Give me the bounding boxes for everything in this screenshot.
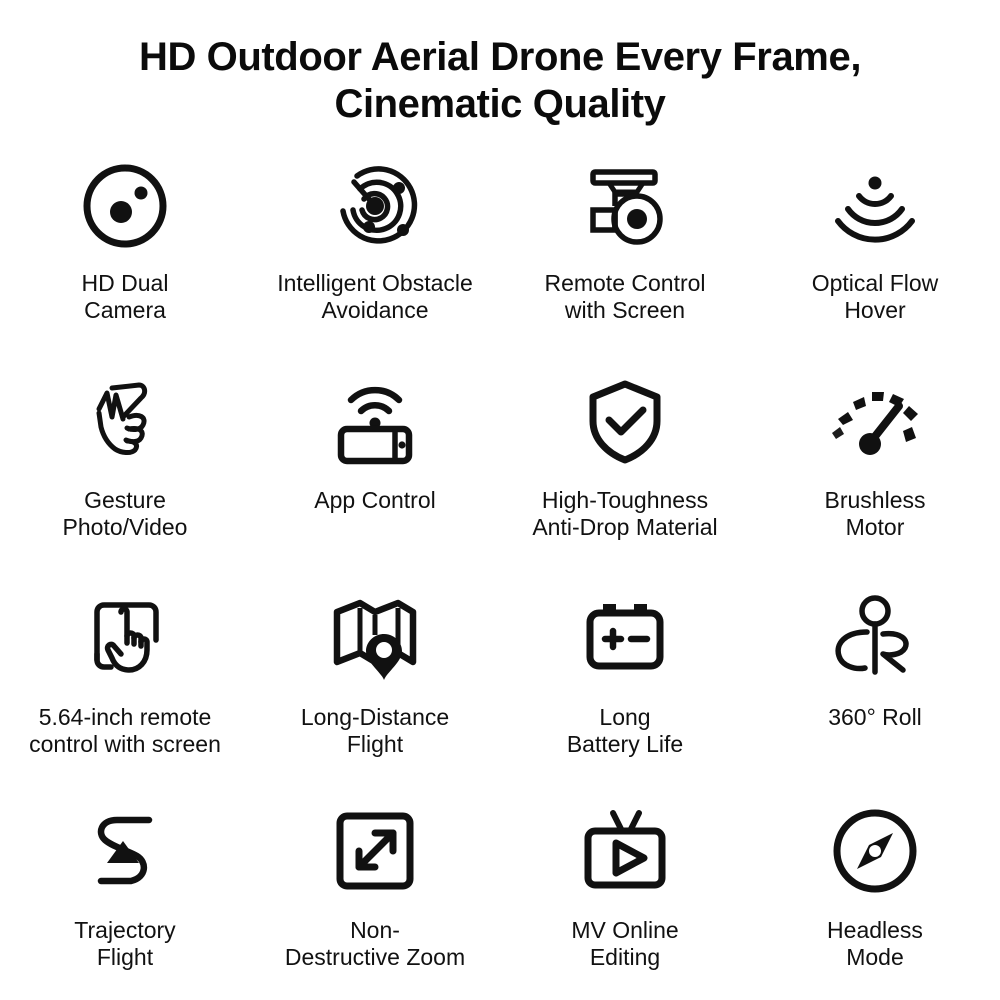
feature-label: Non- Destructive Zoom — [252, 917, 498, 972]
feature-label: Long Battery Life — [502, 704, 748, 759]
compass-icon — [820, 803, 930, 899]
feature-cell-hd-dual-camera: HD Dual Camera — [0, 154, 250, 369]
feature-cell-mv-online-editing: MV Online Editing — [500, 799, 750, 1000]
page-title: HD Outdoor Aerial Drone Every Frame, Cin… — [50, 34, 950, 128]
feature-cell-360-roll: 360° Roll — [750, 584, 1000, 799]
hd-dual-camera-icon — [70, 158, 180, 254]
obstacle-avoidance-radar-icon — [320, 158, 430, 254]
feature-cell-remote-control-with-screen: Remote Control with Screen — [500, 154, 750, 369]
feature-label: HD Dual Camera — [2, 270, 248, 325]
feature-label: Headless Mode — [752, 917, 998, 972]
feature-label: Gesture Photo/Video — [2, 487, 248, 542]
expand-arrows-icon — [320, 803, 430, 899]
feature-grid: HD Dual Camera Intelligent Obstacle Avoi… — [0, 154, 1000, 1000]
feature-cell-app-control: App Control — [250, 369, 500, 584]
feature-label: 360° Roll — [752, 704, 998, 732]
feature-label: Long-Distance Flight — [252, 704, 498, 759]
trajectory-s-curve-icon — [70, 803, 180, 899]
feature-label: Trajectory Flight — [2, 917, 248, 972]
feature-label: High-Toughness Anti-Drop Material — [502, 487, 748, 542]
map-pin-icon — [320, 588, 430, 684]
feature-label: App Control — [252, 487, 498, 515]
feature-cell-gesture-photo-video: Gesture Photo/Video — [0, 369, 250, 584]
feature-cell-long-battery-life: Long Battery Life — [500, 584, 750, 799]
feature-label: Optical Flow Hover — [752, 270, 998, 325]
battery-icon — [570, 588, 680, 684]
shield-check-icon — [570, 373, 680, 469]
feature-label: 5.64-inch remote control with screen — [2, 704, 248, 759]
feature-cell-anti-drop-material: High-Toughness Anti-Drop Material — [500, 369, 750, 584]
phone-wifi-icon — [320, 373, 430, 469]
feature-cell-headless-mode: Headless Mode — [750, 799, 1000, 1000]
feature-label: MV Online Editing — [502, 917, 748, 972]
feature-cell-trajectory-flight: Trajectory Flight — [0, 799, 250, 1000]
speedometer-icon — [820, 373, 930, 469]
feature-poster: HD Outdoor Aerial Drone Every Frame, Cin… — [0, 0, 1000, 1000]
tv-play-icon — [570, 803, 680, 899]
optical-flow-waves-icon — [820, 158, 930, 254]
feature-cell-non-destructive-zoom: Non- Destructive Zoom — [250, 799, 500, 1000]
gimbal-camera-icon — [570, 158, 680, 254]
hand-gesture-icon — [70, 373, 180, 469]
feature-label: Brushless Motor — [752, 487, 998, 542]
feature-cell-remote-screen-size: 5.64-inch remote control with screen — [0, 584, 250, 799]
feature-cell-optical-flow-hover: Optical Flow Hover — [750, 154, 1000, 369]
feature-label: Intelligent Obstacle Avoidance — [252, 270, 498, 325]
roll-rotation-icon — [820, 588, 930, 684]
feature-cell-brushless-motor: Brushless Motor — [750, 369, 1000, 584]
feature-cell-long-distance-flight: Long-Distance Flight — [250, 584, 500, 799]
touchscreen-hand-icon — [70, 588, 180, 684]
feature-label: Remote Control with Screen — [502, 270, 748, 325]
feature-cell-obstacle-avoidance: Intelligent Obstacle Avoidance — [250, 154, 500, 369]
